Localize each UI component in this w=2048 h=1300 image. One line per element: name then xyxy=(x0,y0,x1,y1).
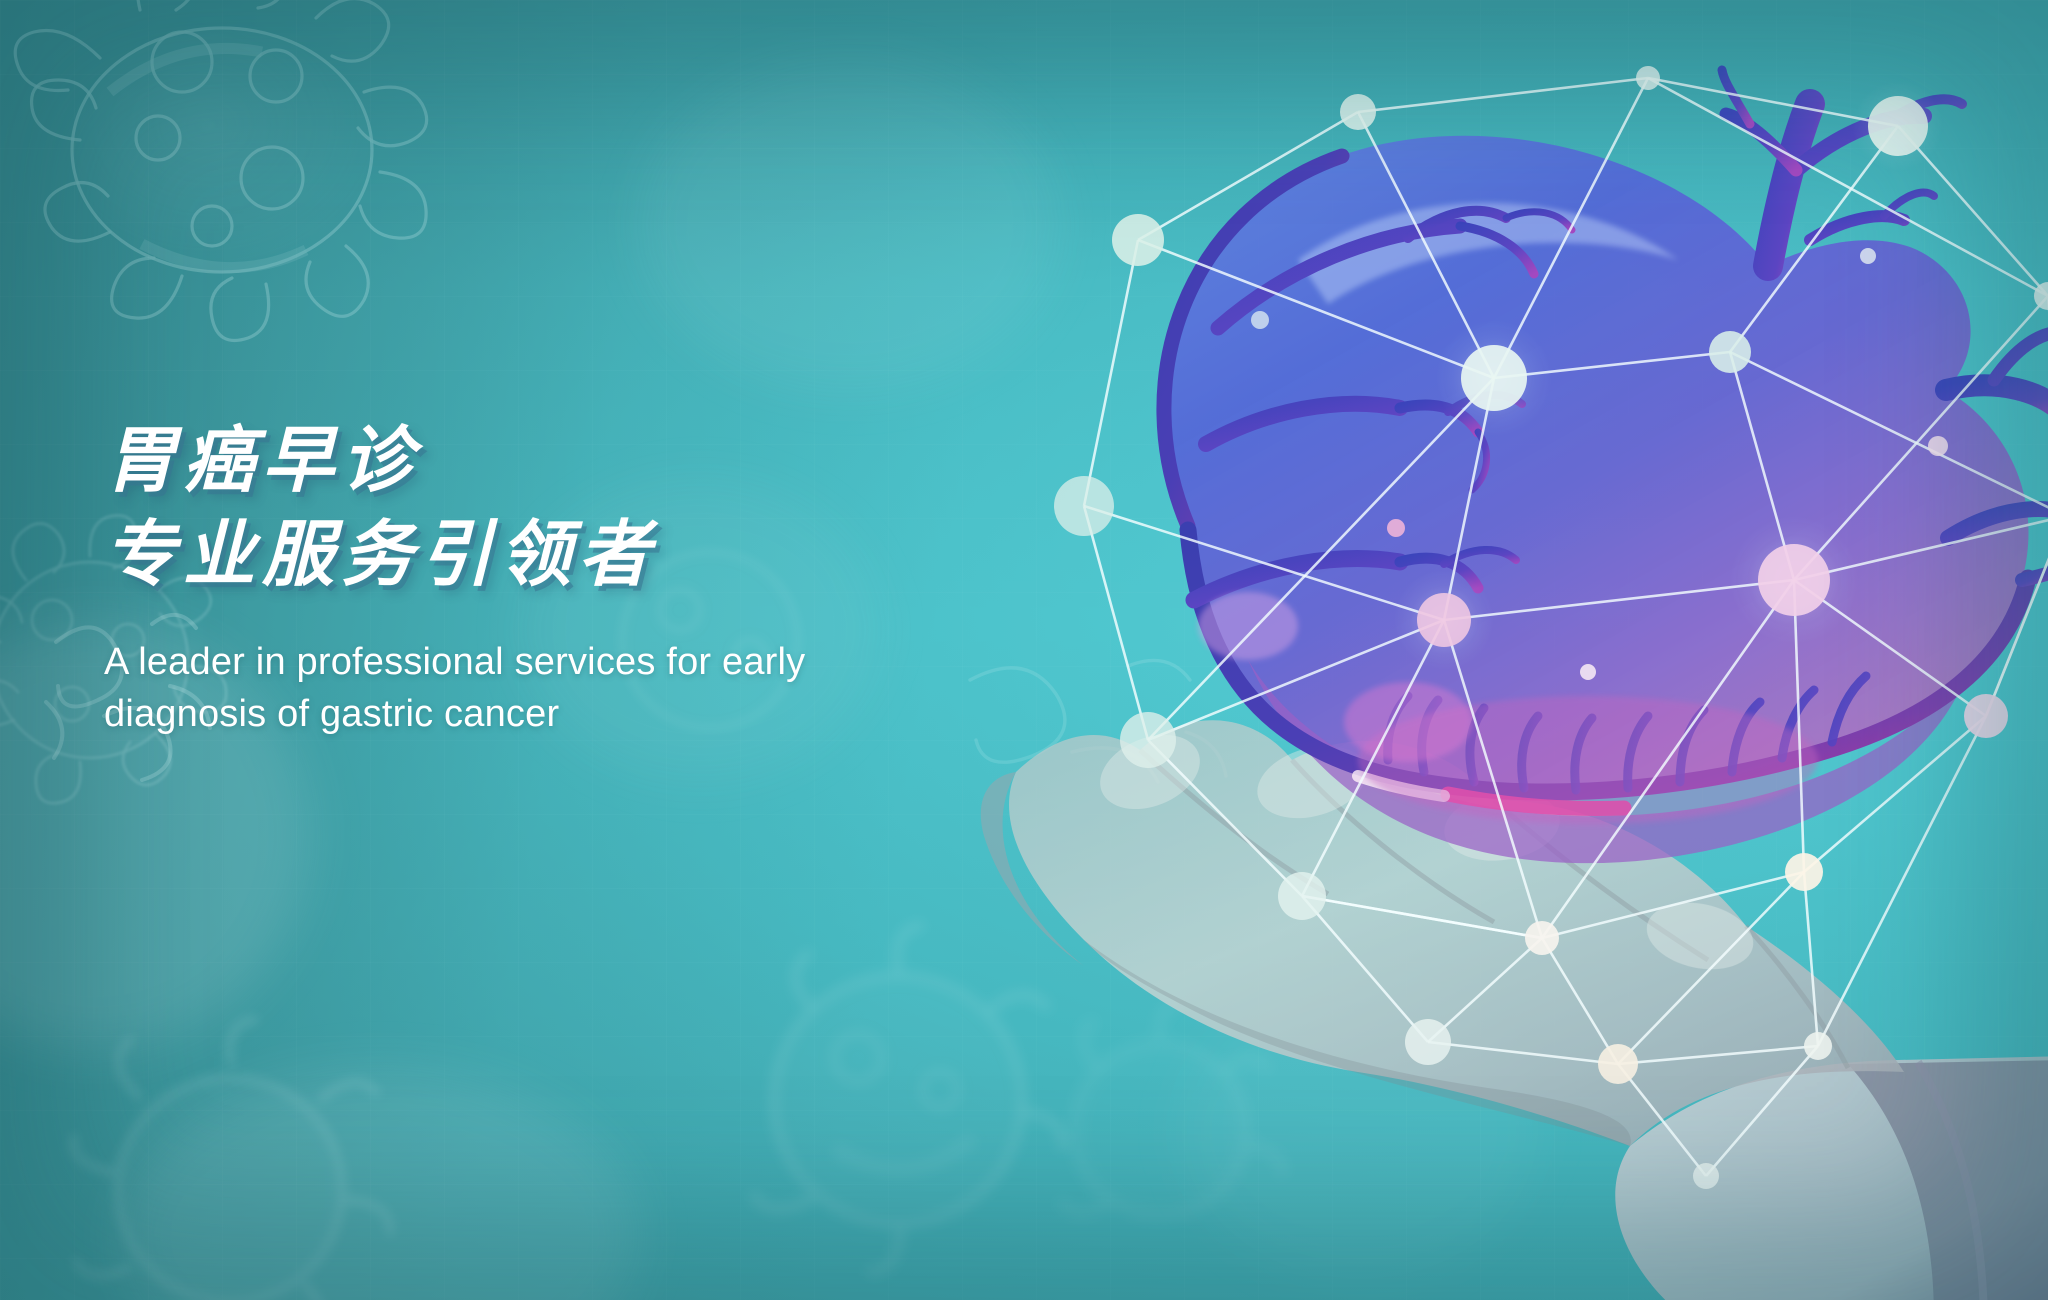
banner-hero: 胃癌早诊 专业服务引领者 A leader in professional se… xyxy=(0,0,2048,1300)
subtitle-line-1: A leader in professional services for ea… xyxy=(104,636,894,688)
subtitle-line-2: diagnosis of gastric cancer xyxy=(104,688,894,740)
page-title: 胃癌早诊 专业服务引领者 xyxy=(104,418,1154,600)
headline-line-1: 胃癌早诊 xyxy=(104,418,1154,506)
headline-line-2: 专业服务引领者 xyxy=(104,512,1154,600)
hero-copy: 胃癌早诊 专业服务引领者 A leader in professional se… xyxy=(104,418,1154,741)
page-subtitle: A leader in professional services for ea… xyxy=(104,636,894,741)
